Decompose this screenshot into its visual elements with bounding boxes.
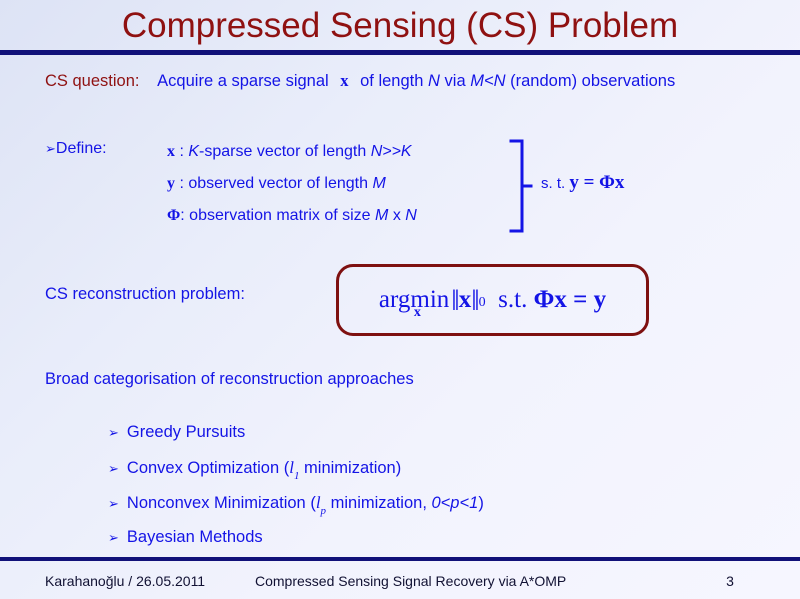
cs-question-text-2: of length [360,72,423,90]
slide: Compressed Sensing (CS) Problem CS quest… [0,0,800,599]
define-symbol-y: y [167,175,175,192]
define-colon: : [179,175,183,192]
define-text-phi: observation matrix of size [189,207,370,224]
list-item-label: Bayesian Methods [127,528,263,546]
define-tail-m: M [372,175,385,192]
arrow-bullet-icon: ➢ [108,497,119,512]
arrow-bullet-icon: ➢ [108,426,119,441]
list-item-nonconvex-minimization: ➢Nonconvex Minimization (lp minimization… [108,485,728,520]
define-text-x: -sparse vector of length [199,143,366,160]
st-prefix: s. t. [541,175,565,192]
cs-question-label: CS question: [45,72,139,90]
cs-question-paragraph: CS question: Acquire a sparse signal x o… [45,68,765,94]
norm-subscript: 1 [294,470,300,482]
footer-page-number: 3 [710,573,750,589]
title-divider [0,50,800,55]
approaches-heading: Broad categorisation of reconstruction a… [45,370,414,389]
define-text-y: observed vector of length [188,175,368,192]
list-item-convex-optimization: ➢Convex Optimization (l1 minimization) [108,450,728,485]
cs-question-text-3: via [445,72,466,90]
define-label-group: ➢Define: [45,140,107,158]
list-item-label: Nonconvex Minimization ( [127,494,316,512]
define-symbol-x: x [167,143,175,160]
define-line-phi: Φ: observation matrix of size M x N [167,200,507,232]
arrow-bullet-icon: ➢ [108,531,119,546]
cs-question-text-4: (random) [510,72,577,90]
argmin-group: argminx [379,286,451,314]
equation-content: argminx‖x‖0 s.t. Φx = y [339,267,646,333]
equation-arg: arg [379,286,410,313]
define-colon: : [179,143,183,160]
equation-norm-open: ‖ [451,284,458,318]
cs-question-text-5: observations [582,72,676,90]
grouping-brace-icon [507,138,533,234]
norm-subscript: p [321,505,327,517]
equation-norm-close: ‖ [471,284,478,318]
define-lines: x : K-sparse vector of length N>>K y : o… [167,136,507,232]
equation-norm-arg: x [459,286,472,314]
list-item-label: Convex Optimization ( [127,459,289,477]
define-line-y: y : observed vector of length M [167,168,507,200]
define-line-x: x : K-sparse vector of length N>>K [167,136,507,168]
footer: Karahanoğlu / 26.05.2011 Compressed Sens… [0,561,800,599]
list-item-label: Greedy Pursuits [127,423,245,441]
list-item-suffix: minimization) [299,459,401,477]
list-item-range: 0<p<1 [432,494,479,512]
define-tail-nk: N>>K [371,143,412,160]
equation-box: argminx‖x‖0 s.t. Φx = y [336,264,649,336]
cs-reconstruction-label: CS reconstruction problem: [45,285,245,304]
equation-st: s.t. [498,286,527,314]
st-equation: y = Φx [569,172,624,193]
footer-author-date: Karahanoğlu / 26.05.2011 [45,573,205,589]
define-tail-n2: N [405,207,417,224]
page-title: Compressed Sensing (CS) Problem [122,8,678,43]
title-area: Compressed Sensing (CS) Problem [0,0,800,50]
define-colon: : [180,207,184,224]
list-item-greedy-pursuits: ➢Greedy Pursuits [108,415,728,450]
cs-question-text-1: Acquire a sparse signal [157,72,329,90]
cs-question-symbol-n: N [428,72,440,90]
equation-min-subscript: x [414,305,421,321]
cs-question-symbol-mn: M<N [470,72,505,90]
list-item-middle: minimization, [326,494,431,512]
define-symbol-phi: Φ [167,207,180,224]
norm-letter: l [316,493,321,512]
arrow-bullet-icon: ➢ [108,462,119,477]
subject-to-expression: s. t. y = Φx [541,172,624,194]
cs-question-symbol-x: x [340,71,348,90]
equation-norm-subscript: 0 [479,295,486,311]
list-item-bayesian-methods: ➢Bayesian Methods [108,520,728,555]
list-item-suffix: ) [478,494,484,512]
footer-presentation-title: Compressed Sensing Signal Recovery via A… [255,573,566,589]
arrow-bullet-icon: ➢ [45,142,56,157]
define-tail-m2: M [375,207,388,224]
approaches-list: ➢Greedy Pursuits ➢Convex Optimization (l… [108,415,728,555]
define-label: Define: [56,140,107,157]
equation-constraint: Φx = y [534,286,606,314]
define-symbol-k: K [188,143,199,160]
define-tail-times: x [393,207,401,224]
